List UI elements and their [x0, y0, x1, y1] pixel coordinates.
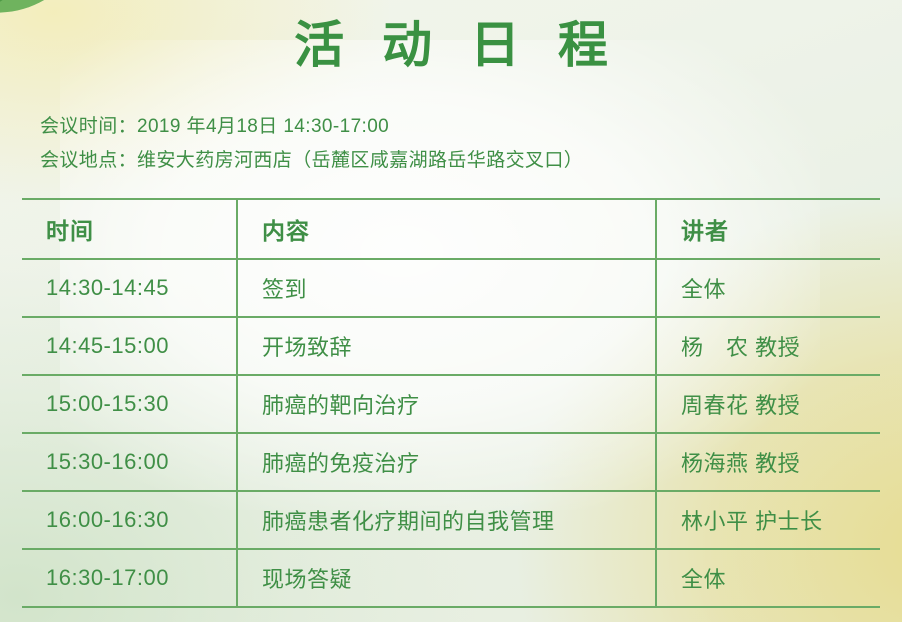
table-row: 15:00-15:30 肺癌的靶向治疗 周春花 教授 [22, 375, 880, 433]
cell-time: 14:30-14:45 [22, 259, 237, 317]
cell-speaker: 杨海燕 教授 [656, 433, 880, 491]
cell-speaker: 全体 [656, 259, 880, 317]
table-row: 14:45-15:00 开场致辞 杨 农 教授 [22, 317, 880, 375]
cell-content: 肺癌患者化疗期间的自我管理 [237, 491, 656, 549]
schedule-poster: 活 动 日 程 会议时间：2019 年4月18日 14:30-17:00 会议地… [0, 0, 902, 622]
meeting-info: 会议时间：2019 年4月18日 14:30-17:00 会议地点：维安大药房河… [40, 110, 583, 178]
cell-speaker: 全体 [656, 549, 880, 607]
meeting-time-line: 会议时间：2019 年4月18日 14:30-17:00 [40, 110, 583, 144]
schedule-table: 时间 内容 讲者 14:30-14:45 签到 全体 14:45-15:00 开… [22, 198, 880, 608]
cell-content: 肺癌的免疫治疗 [237, 433, 656, 491]
column-header-time: 时间 [22, 199, 237, 259]
cell-content: 现场答疑 [237, 549, 656, 607]
cell-time: 14:45-15:00 [22, 317, 237, 375]
cell-content: 肺癌的靶向治疗 [237, 375, 656, 433]
meeting-venue-line: 会议地点：维安大药房河西店（岳麓区咸嘉湖路岳华路交叉口） [40, 144, 583, 178]
column-header-content: 内容 [237, 199, 656, 259]
cell-content: 开场致辞 [237, 317, 656, 375]
cell-speaker: 周春花 教授 [656, 375, 880, 433]
page-title: 活 动 日 程 [0, 14, 902, 76]
table-row: 14:30-14:45 签到 全体 [22, 259, 880, 317]
cell-time: 16:00-16:30 [22, 491, 237, 549]
cell-content: 签到 [237, 259, 656, 317]
table-row: 16:30-17:00 现场答疑 全体 [22, 549, 880, 607]
cell-time: 16:30-17:00 [22, 549, 237, 607]
cell-time: 15:30-16:00 [22, 433, 237, 491]
table-row: 16:00-16:30 肺癌患者化疗期间的自我管理 林小平 护士长 [22, 491, 880, 549]
table-row: 15:30-16:00 肺癌的免疫治疗 杨海燕 教授 [22, 433, 880, 491]
column-header-speaker: 讲者 [656, 199, 880, 259]
cell-time: 15:00-15:30 [22, 375, 237, 433]
table-header-row: 时间 内容 讲者 [22, 199, 880, 259]
cell-speaker: 林小平 护士长 [656, 491, 880, 549]
cell-speaker: 杨 农 教授 [656, 317, 880, 375]
